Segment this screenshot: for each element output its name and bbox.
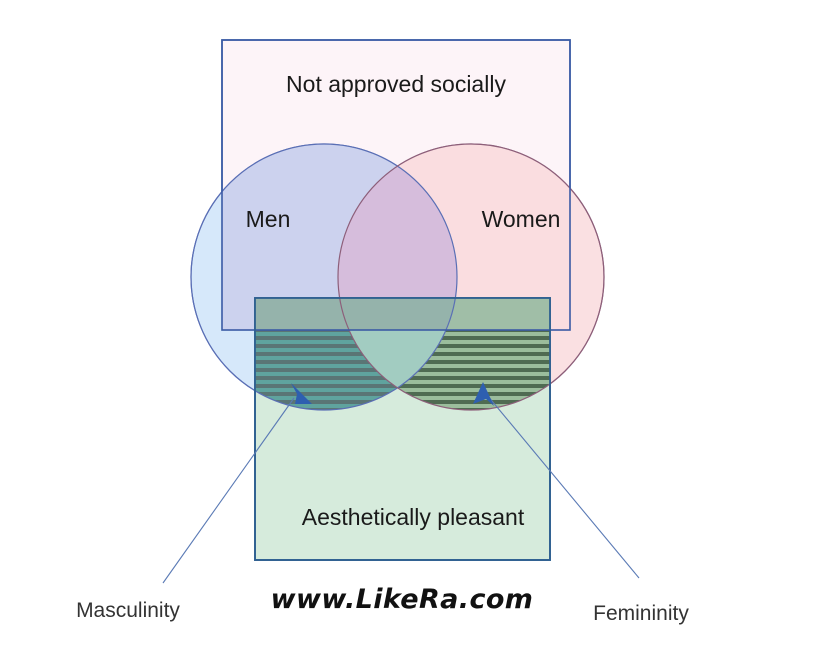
label-aesthetically-pleasant: Aesthetically pleasant bbox=[302, 504, 525, 530]
label-femininity: Femininity bbox=[593, 602, 689, 625]
watermark-likera: www.LikeRa.com bbox=[271, 584, 534, 615]
label-masculinity: Masculinity bbox=[76, 599, 180, 622]
label-not-approved-socially: Not approved socially bbox=[286, 71, 506, 97]
venn-diagram-canvas: Not approved socially Men Women Aestheti… bbox=[0, 0, 813, 663]
label-men: Men bbox=[246, 206, 291, 232]
label-women: Women bbox=[482, 206, 561, 232]
